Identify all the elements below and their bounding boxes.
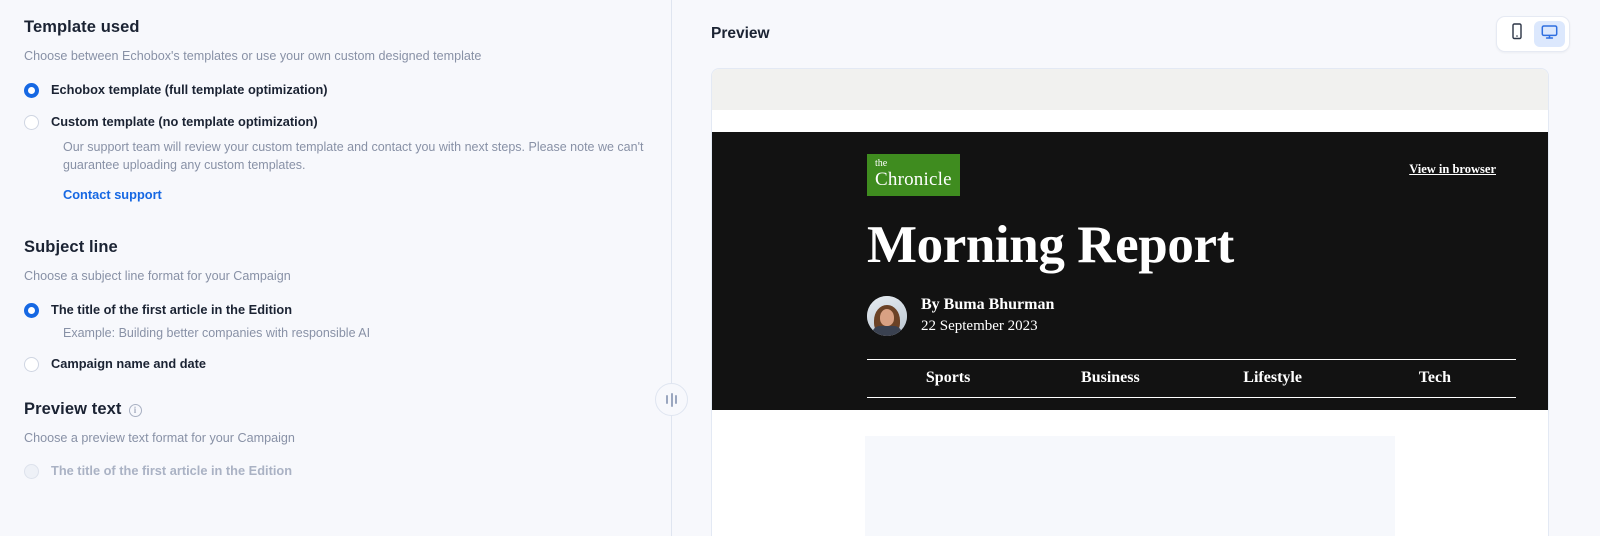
section-spacer bbox=[24, 372, 648, 400]
newsletter-inner: the Chronicle View in browser Morning Re… bbox=[712, 154, 1548, 398]
nav-item-sports[interactable]: Sports bbox=[867, 369, 1029, 387]
device-toggle-group[interactable] bbox=[1496, 16, 1570, 52]
author-avatar bbox=[867, 296, 907, 336]
preview-text-section: Preview text i Choose a preview text for… bbox=[24, 400, 648, 480]
logo-name-text: Chronicle bbox=[875, 169, 952, 191]
nav-item-business[interactable]: Business bbox=[1029, 369, 1191, 387]
settings-panel: Template used Choose between Echobox's t… bbox=[0, 0, 672, 536]
desktop-view-button[interactable] bbox=[1534, 21, 1565, 47]
newsletter-byline: By Buma Bhurman 22 September 2023 bbox=[867, 295, 1516, 336]
newsletter-body bbox=[712, 410, 1548, 530]
section-spacer bbox=[24, 204, 648, 238]
preview-text-heading: Preview text i bbox=[24, 400, 648, 419]
radio-button-subject-campaign-name-date[interactable] bbox=[24, 357, 39, 372]
preview-header: Preview bbox=[672, 0, 1600, 68]
newsletter-top-row: the Chronicle View in browser bbox=[867, 154, 1516, 196]
article-image-placeholder bbox=[865, 436, 1395, 536]
radio-label-subject-first-article: The title of the first article in the Ed… bbox=[51, 302, 292, 318]
radio-option-subject-campaign-name-date[interactable]: Campaign name and date bbox=[24, 356, 648, 372]
template-used-heading: Template used bbox=[24, 18, 648, 37]
nav-item-tech[interactable]: Tech bbox=[1354, 369, 1516, 387]
radio-option-custom-template[interactable]: Custom template (no template optimizatio… bbox=[24, 114, 648, 130]
grip-bar bbox=[666, 395, 668, 404]
template-used-description: Choose between Echobox's templates or us… bbox=[24, 48, 648, 66]
radio-label-preview-first-article: The title of the first article in the Ed… bbox=[51, 463, 292, 479]
mobile-view-button[interactable] bbox=[1501, 21, 1532, 47]
subject-line-heading: Subject line bbox=[24, 238, 648, 257]
mobile-icon bbox=[1510, 23, 1524, 45]
email-preview-card: the Chronicle View in browser Morning Re… bbox=[711, 68, 1549, 536]
avatar-face bbox=[880, 309, 894, 326]
newsletter-header: the Chronicle View in browser Morning Re… bbox=[712, 132, 1548, 410]
template-used-section: Template used Choose between Echobox's t… bbox=[24, 18, 648, 204]
panel-resize-handle[interactable] bbox=[655, 383, 688, 416]
radio-label-subject-campaign-name-date: Campaign name and date bbox=[51, 356, 206, 372]
radio-button-custom-template[interactable] bbox=[24, 115, 39, 130]
chronicle-logo: the Chronicle bbox=[867, 154, 960, 196]
preview-card-toolbar bbox=[712, 69, 1548, 110]
desktop-icon bbox=[1541, 24, 1558, 45]
contact-support-link[interactable]: Contact support bbox=[63, 187, 162, 202]
logo-the-text: the bbox=[875, 158, 952, 169]
preview-card-spacer bbox=[712, 110, 1548, 132]
campaign-settings-screen: Template used Choose between Echobox's t… bbox=[0, 0, 1600, 536]
preview-text-title: Preview text bbox=[24, 400, 122, 419]
info-icon[interactable]: i bbox=[129, 404, 142, 417]
subject-line-description: Choose a subject line format for your Ca… bbox=[24, 268, 648, 286]
preview-text-description: Choose a preview text format for your Ca… bbox=[24, 430, 648, 448]
subject-line-example: Example: Building better companies with … bbox=[63, 326, 648, 340]
custom-template-note: Our support team will review your custom… bbox=[63, 138, 648, 174]
preview-panel: Preview bbox=[672, 0, 1600, 536]
avatar-body bbox=[872, 326, 902, 336]
author-name: By Buma Bhurman bbox=[921, 295, 1054, 316]
view-in-browser-link[interactable]: View in browser bbox=[1409, 162, 1496, 177]
radio-option-echobox-template[interactable]: Echobox template (full template optimiza… bbox=[24, 82, 648, 98]
radio-option-subject-first-article[interactable]: The title of the first article in the Ed… bbox=[24, 302, 648, 318]
byline-text: By Buma Bhurman 22 September 2023 bbox=[921, 295, 1054, 336]
radio-option-preview-first-article[interactable]: The title of the first article in the Ed… bbox=[24, 463, 648, 479]
subject-line-title: Subject line bbox=[24, 238, 118, 257]
subject-line-section: Subject line Choose a subject line forma… bbox=[24, 238, 648, 372]
radio-label-custom-template: Custom template (no template optimizatio… bbox=[51, 114, 318, 130]
radio-button-echobox-template[interactable] bbox=[24, 83, 39, 98]
panel-divider bbox=[671, 0, 672, 536]
template-used-title: Template used bbox=[24, 18, 140, 37]
newsletter-nav: Sports Business Lifestyle Tech bbox=[867, 359, 1516, 398]
grip-bar bbox=[675, 395, 677, 404]
radio-label-echobox-template: Echobox template (full template optimiza… bbox=[51, 82, 328, 98]
nav-item-lifestyle[interactable]: Lifestyle bbox=[1192, 369, 1354, 387]
radio-button-preview-first-article[interactable] bbox=[24, 464, 39, 479]
newsletter-title: Morning Report bbox=[867, 218, 1516, 274]
preview-title: Preview bbox=[711, 25, 770, 43]
radio-button-subject-first-article[interactable] bbox=[24, 303, 39, 318]
grip-bar bbox=[671, 393, 673, 407]
publish-date: 22 September 2023 bbox=[921, 316, 1054, 336]
